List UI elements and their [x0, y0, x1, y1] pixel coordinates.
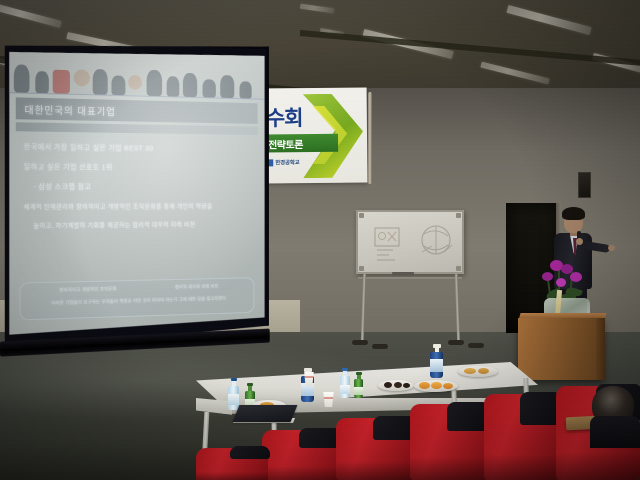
auditorium-seat[interactable] — [484, 394, 560, 480]
slide-bullet: 높이고, 자기계발의 기회를 제공하는 합리적 대우와 미래 비전 — [24, 218, 253, 229]
bottle-label — [430, 359, 443, 372]
banner-sponsor: 한경공학교 — [275, 158, 299, 166]
slide-bullet: 한국에서 가장 일하고 싶은 기업 BEST 30 — [24, 141, 253, 154]
ceiling-light-fixture — [300, 4, 334, 14]
seated-attendee — [592, 386, 640, 446]
auditorium-seat[interactable] — [196, 448, 268, 480]
plate-food — [431, 382, 442, 389]
photo-strip-shape — [74, 69, 90, 86]
orchid-bloom — [542, 272, 553, 281]
whiteboard-caster — [448, 340, 464, 345]
projection-screen-surface: 대한민국의 대표기업 한국에서 가장 일하고 싶은 기업 BEST 30 일하고… — [8, 46, 265, 335]
slide-callout-right: 합리적 대우와 미래 비전 — [175, 284, 218, 291]
photo-strip-shape — [147, 70, 163, 96]
photo-scene: 수회 전략토론 한경공학교 — [0, 0, 640, 480]
plate-food — [443, 383, 453, 389]
seat-shading — [262, 466, 340, 480]
banner-headline: 수회 — [266, 102, 303, 132]
slide-title-bar: 대한민국의 대표기업 — [16, 97, 258, 124]
seat-shading — [196, 472, 268, 480]
banner-subhead-band: 전략토론 — [264, 134, 338, 153]
seat-headrest — [230, 446, 270, 459]
bottle-label — [340, 385, 350, 394]
seat-shading — [556, 452, 640, 480]
banner-subhead: 전략토론 — [268, 136, 303, 151]
projection-screen-assembly: 대한민국의 대표기업 한국에서 가장 일하고 싶은 기업 BEST 30 일하고… — [2, 36, 269, 351]
photo-strip-shape — [35, 71, 49, 93]
plate-food — [403, 383, 410, 388]
slide-callout-left: 창의적이고 개방적인 조직문화 — [59, 286, 116, 293]
food-plate — [414, 380, 458, 392]
slide-bullet: 일하고 싶은 기업 선호도 1위 — [24, 161, 253, 173]
presenter-hair — [562, 207, 585, 220]
orchid-bloom — [570, 272, 582, 282]
whiteboard-corner — [456, 266, 461, 271]
slide-bullet: 체계적 인재관리와 창의적이고 개방적인 조직문화를 통해 개인의 역량을 — [24, 201, 253, 211]
photo-strip-shape — [111, 75, 125, 95]
whiteboard-stand-crossbar — [358, 277, 462, 279]
whiteboard-marker-tray — [392, 272, 414, 276]
auditorium-seat[interactable] — [336, 418, 414, 480]
whiteboard-corner — [359, 266, 364, 271]
banner-sponsor-row: 한경공학교 — [266, 158, 299, 166]
cup-band — [303, 376, 315, 378]
slide-callout-row: 창의적이고 개방적인 조직문화 합리적 대우와 미래 비전 — [28, 283, 246, 294]
photo-strip-shape — [128, 75, 142, 90]
photo-strip-shape — [220, 75, 234, 98]
plate-food — [384, 382, 392, 388]
plate-food — [464, 368, 476, 374]
photo-strip-shape — [53, 70, 70, 94]
ceiling-light-fixture — [0, 3, 62, 28]
attendee-body — [590, 416, 640, 448]
ceiling-light-fixture — [480, 62, 549, 85]
presenter-mic-hand — [576, 238, 583, 245]
water-bottle — [340, 368, 350, 398]
food-plate — [458, 366, 498, 377]
auditorium-seat[interactable] — [410, 404, 488, 480]
podium — [518, 318, 604, 380]
whiteboard-caster — [352, 340, 368, 345]
slide-title: 대한민국의 대표기업 — [25, 101, 116, 118]
presenter-hand — [608, 245, 615, 251]
slide-callout-bottom: 이러한 기업들이 요구하는 우리들의 역량은 어떤 것이 되어야 하는가 그에 … — [28, 295, 246, 307]
food-plate — [378, 380, 414, 391]
presentation-slide: 대한민국의 대표기업 한국에서 가장 일하고 싶은 기업 BEST 30 일하고… — [8, 46, 265, 335]
seat-shading — [336, 461, 414, 480]
plate-food — [419, 382, 430, 389]
whiteboard-corner — [359, 213, 364, 218]
ceiling-beam — [300, 30, 640, 67]
plate-food — [478, 368, 489, 374]
photo-strip-shape — [203, 79, 216, 97]
photo-strip-shape — [240, 81, 252, 98]
wall-speaker-icon — [578, 172, 591, 198]
slide-body: 한국에서 가장 일하고 싶은 기업 BEST 30 일하고 싶은 기업 선호도 … — [8, 131, 265, 335]
photo-strip-shape — [93, 69, 108, 95]
plate-food — [394, 382, 402, 388]
bottle-label — [354, 387, 363, 395]
green-soda-bottle — [354, 372, 363, 398]
bottle-label — [228, 394, 239, 405]
whiteboard-sketch-icon — [372, 224, 410, 268]
whiteboard — [356, 210, 464, 274]
wall-banner: 수회 전략토론 한경공학교 — [262, 88, 368, 184]
orchid-bloom — [556, 278, 566, 287]
seat-shading — [410, 457, 488, 480]
dark-booklet — [233, 405, 298, 422]
photo-strip-shape — [167, 76, 180, 96]
whiteboard-sketch-icon — [416, 222, 458, 262]
milk-bottle — [430, 344, 443, 378]
water-bottle — [228, 378, 239, 410]
auditorium-seat[interactable] — [262, 430, 340, 480]
whiteboard-corner — [456, 213, 461, 218]
seat-shading — [484, 454, 560, 480]
ceiling-light-fixture — [506, 5, 591, 35]
photo-strip-shape — [183, 73, 197, 97]
photo-strip-shape — [14, 64, 30, 92]
whiteboard-caster — [468, 343, 484, 348]
banner-pole — [368, 92, 372, 184]
whiteboard-caster — [372, 344, 388, 349]
slide-bullet: - 삼성 스크랩 참고 — [24, 181, 253, 192]
slide-callout-box: 창의적이고 개방적인 조직문화 합리적 대우와 미래 비전 이러한 기업들이 요… — [20, 277, 255, 320]
podium-side-edge — [596, 318, 605, 380]
